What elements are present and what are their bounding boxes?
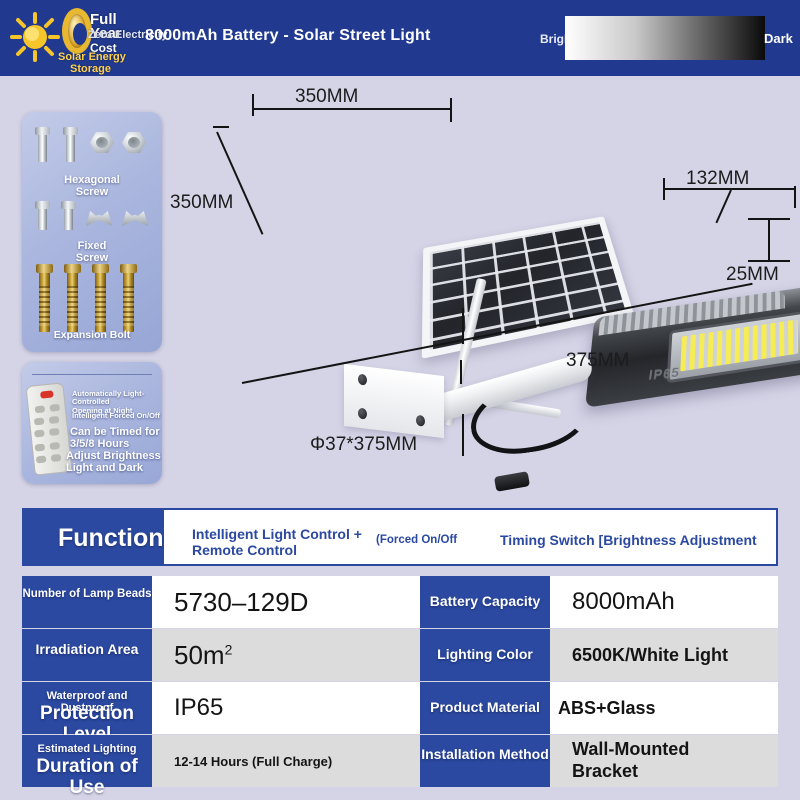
spec-value-cell: IP65 — [152, 682, 420, 734]
solar-badge: Full Year Zero Electricity Cost Solar En… — [0, 0, 137, 76]
brightness-gradient-bar — [565, 16, 765, 60]
hexagonal-screw-row — [22, 126, 162, 166]
remote-line-7: Light and Dark — [66, 462, 162, 474]
gradient-dark-label: Dark — [764, 31, 793, 46]
hex-bolt-icon — [38, 132, 47, 162]
bracket-bolt-icon — [416, 415, 425, 427]
dimension-pole-spec: Φ37*375MM — [310, 434, 417, 456]
spec-value-cell: 6500K/White Light — [550, 629, 778, 681]
bracket-bolt-icon — [358, 374, 367, 386]
panel-divider — [32, 374, 152, 375]
function-bar: Function Intelligent Light Control + Rem… — [22, 508, 778, 566]
wing-nut-icon — [86, 210, 112, 226]
led-array — [680, 319, 798, 371]
remote-line-4: Can be Timed for — [70, 426, 162, 438]
spec-value-protection-level: IP65 — [152, 694, 223, 722]
wall-bracket — [344, 364, 444, 438]
install-line-2: Bracket — [572, 761, 638, 781]
dimension-panel-height: 350MM — [170, 192, 233, 214]
wing-nut-icon — [122, 210, 148, 226]
remote-line-5: 3/5/8 Hours — [70, 438, 162, 450]
accessory-label-line1: Hexagonal — [22, 174, 162, 186]
remote-line-1: Automatically Light-Controlled — [72, 390, 162, 407]
function-item-timing-switch: Timing Switch [Brightness Adjustment — [500, 532, 757, 548]
spec-value-cell: 5730–129D — [152, 576, 420, 628]
hex-bolt-icon — [66, 132, 75, 162]
spec-label-installation-method: Installation Method — [420, 747, 550, 762]
spec-value-lamp-beads: 5730–129D — [152, 587, 308, 618]
remote-power-button-icon — [40, 390, 54, 398]
spec-value-cell: ABS+Glass — [550, 682, 778, 734]
accessory-label-expansion-bolt: Expansion Bolt — [22, 330, 162, 342]
dimension-pole-length: 375MM — [566, 350, 629, 372]
spec-label-product-material: Product Material — [420, 700, 550, 715]
function-label: Function — [58, 524, 164, 553]
expansion-bolt-icon — [39, 270, 50, 332]
hex-nut-icon — [122, 132, 146, 153]
expansion-bolt-icon — [123, 270, 134, 332]
accessory-label-hexagonal-screw: Hexagonal Screw — [22, 174, 162, 198]
accessory-label-fixed-screw: Fixed Screw — [22, 240, 162, 264]
spec-value-cell: 12-14 Hours (Full Charge) — [152, 735, 420, 787]
remote-control-panel: Automatically Light-Controlled Opening a… — [22, 362, 162, 484]
header-bar: Full Year Zero Electricity Cost Solar En… — [0, 0, 800, 76]
table-row: Waterproof and Dustproof Protection Leve… — [22, 682, 778, 734]
spec-value-cell: 8000mAh — [550, 576, 778, 628]
hex-nut-icon — [90, 132, 114, 153]
spec-label-battery-capacity: Battery Capacity — [420, 594, 550, 609]
install-line-1: Wall-Mounted — [572, 739, 689, 759]
table-row: Estimated Lighting Duration of Use 12-14… — [22, 735, 778, 787]
spec-value-irradiation-area: 50m2 — [152, 640, 232, 671]
accessories-panel: Hexagonal Screw Fixed Screw Expansion Bo… — [22, 112, 162, 352]
spec-label-lamp-beads: Number of Lamp Beads — [22, 588, 152, 601]
table-row: Irradiation Area 50m2 Lighting Color 650… — [22, 629, 778, 681]
spec-value-product-material: ABS+Glass — [550, 698, 656, 719]
spec-value-cell: 50m2 — [152, 629, 420, 681]
lamp-ip65-marking: IP65 — [648, 365, 681, 383]
table-row: Number of Lamp Beads 5730–129D Battery C… — [22, 576, 778, 628]
fixed-screw-icon — [38, 206, 47, 230]
sun-icon — [10, 12, 60, 62]
accessory-label-line1: Fixed — [22, 240, 162, 252]
bracket-bolt-icon — [358, 408, 367, 420]
spec-value-cell: Wall-Mounted Bracket — [550, 735, 778, 787]
spec-value-area-exponent: 2 — [225, 641, 233, 657]
spec-label-duration-of-use: Duration of Use — [22, 757, 152, 799]
spec-value-battery-capacity: 8000mAh — [550, 588, 675, 616]
spec-label-irradiation-area: Irradiation Area — [22, 642, 152, 657]
expansion-bolt-row — [22, 264, 162, 304]
spec-value-area-number: 50m — [174, 640, 225, 670]
badge-storage-label: Storage — [70, 64, 111, 76]
fixed-screw-icon — [64, 206, 73, 230]
specifications-table: Number of Lamp Beads 5730–129D Battery C… — [22, 576, 778, 790]
expansion-bolt-icon — [67, 270, 78, 332]
spec-value-installation-method: Wall-Mounted Bracket — [550, 739, 689, 782]
expansion-bolt-icon — [95, 270, 106, 332]
cable-connector — [494, 471, 530, 492]
function-item-forced-onoff: (Forced On/Off — [376, 534, 457, 547]
fixed-screw-row — [22, 198, 162, 238]
remote-feature-timing: Can be Timed for 3/5/8 Hours — [70, 426, 162, 451]
product-infographic: Full Year Zero Electricity Cost Solar En… — [0, 0, 800, 800]
remote-feature-brightness: Adjust Brightness Light and Dark — [66, 450, 162, 475]
spec-value-duration: 12-14 Hours (Full Charge) — [152, 754, 332, 769]
page-title: 8000mAh Battery - Solar Street Light — [145, 27, 431, 45]
spec-value-lighting-color: 6500K/White Light — [550, 645, 728, 666]
product-diagram: IP65 350MM 350MM 132MM 25MM — [170, 82, 800, 492]
function-item-light-control: Intelligent Light Control + Remote Contr… — [192, 526, 382, 558]
accessory-label-line2: Screw — [22, 186, 162, 198]
remote-line-6: Adjust Brightness — [66, 450, 162, 462]
badge-solar-energy-label: Solar Energy — [58, 52, 126, 64]
dimension-panel-width: 350MM — [295, 86, 358, 108]
spec-label-cell — [22, 576, 152, 628]
dimension-head-depth: 132MM — [686, 168, 749, 190]
spec-label-lighting-color: Lighting Color — [420, 647, 550, 662]
spec-label-estimated-lighting: Estimated Lighting — [22, 743, 152, 755]
accessory-label-line2: Screw — [22, 252, 162, 264]
remote-feature-forced-onoff: Intelligent Forced On/Off — [72, 412, 162, 420]
